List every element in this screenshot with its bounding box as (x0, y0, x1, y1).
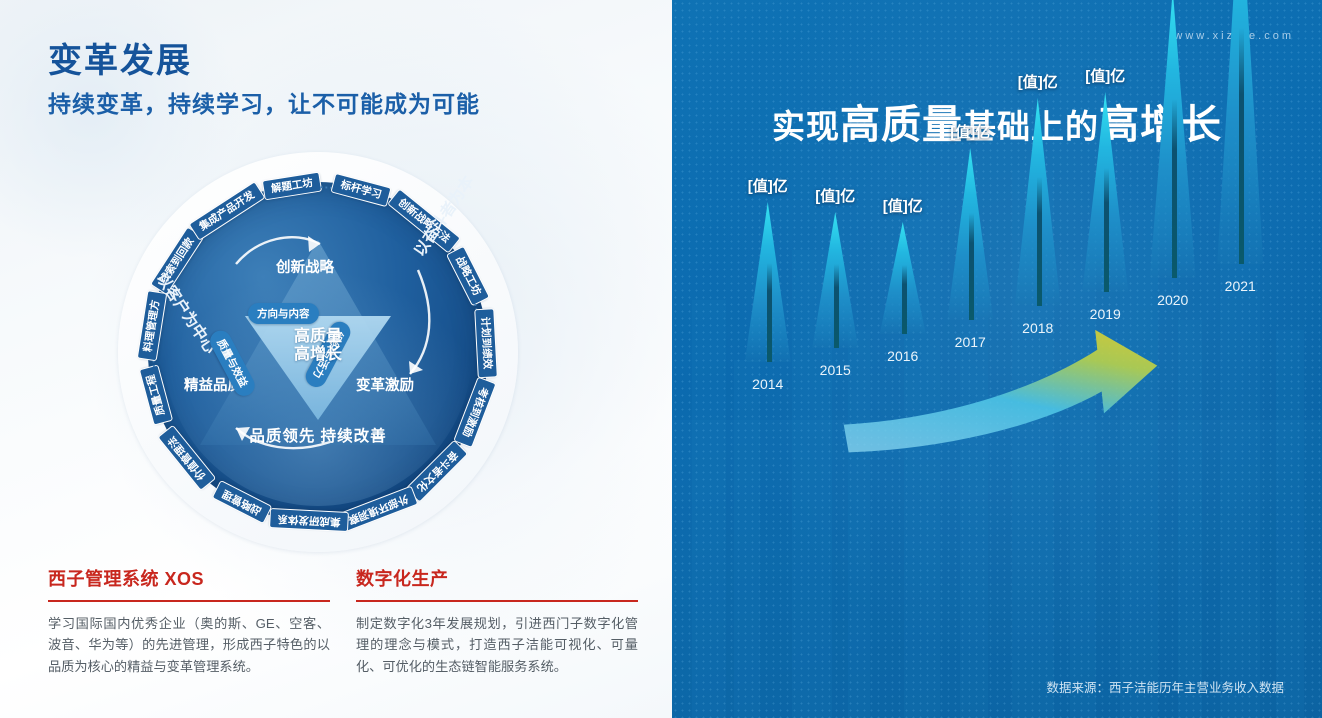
vertex-innovation-strategy: 创新战略 (276, 256, 334, 277)
vertex-change-incentive: 变革激励 (356, 374, 414, 395)
bar-value-label: [值]亿 (1085, 65, 1125, 86)
bar-category-label: 2019 (1090, 306, 1121, 322)
slide-root: 变革发展 持续变革，持续学习，让不可能成为可能 解题工坊...标杆学习创新战略方… (0, 0, 1322, 718)
pill-direction-content: 方向与内容 (248, 303, 319, 324)
bar-spine (969, 213, 974, 320)
bar-value-label: [值]亿 (748, 175, 788, 196)
chart-bar[interactable]: [值]亿 (812, 212, 858, 348)
diagram-core-text: 高质量 高增长 (262, 328, 374, 365)
column-body: 制定数字化3年发展规划，引进西门子数字化管理的理念与模式，打造西子洁能可视化、可… (356, 613, 638, 677)
bar-spine (902, 265, 907, 334)
column-heading: 数字化生产 (356, 565, 638, 591)
bar-category-label: 2021 (1225, 278, 1256, 294)
bar-spine (1037, 177, 1042, 306)
bar-spine (1104, 168, 1109, 292)
chart-bar[interactable]: [值]亿 (1150, 0, 1196, 278)
bar-category-label: 2020 (1157, 292, 1188, 308)
chart-bar[interactable]: [值]亿 (1015, 98, 1061, 306)
column-divider (356, 600, 638, 602)
xos-circular-diagram: 解题工坊...标杆学习创新战略方法战略工坊...计划到绩效考核到激励奋斗者文化外… (118, 152, 518, 552)
bar-category-label: 2015 (820, 362, 851, 378)
bar-category-label: 2017 (955, 334, 986, 350)
left-panel: 变革发展 持续变革，持续学习，让不可能成为可能 解题工坊...标杆学习创新战略方… (0, 0, 672, 718)
page-subtitle: 持续变革，持续学习，让不可能成为可能 (48, 85, 480, 119)
column-heading: 西子管理系统 XOS (48, 565, 330, 591)
core-line-1: 高质量 (262, 328, 374, 346)
column-divider (48, 600, 330, 602)
right-panel: www.xizice.com 实现高质量基础上的高增长 [值]亿2014[值]亿… (672, 0, 1322, 718)
chart-bar[interactable]: [值]亿 (947, 148, 993, 320)
diagram-bottom-caption: 品质领先 持续改善 (208, 424, 428, 446)
bar-value-label: [值]亿 (815, 185, 855, 206)
title-prefix: 实现 (772, 108, 840, 145)
bar-spine (1172, 99, 1177, 278)
ring-label-chip[interactable]: 集成研发体系 (269, 508, 349, 532)
bar-spine (834, 264, 839, 348)
bar-category-label: 2018 (1022, 320, 1053, 336)
title-highlight-quality: 高质量 (840, 103, 963, 147)
chart-bar[interactable]: [值]亿 (1217, 0, 1263, 264)
bar-category-label: 2016 (887, 348, 918, 364)
bar-value-label: [值]亿 (1018, 71, 1058, 92)
bar-value-label: [值]亿 (950, 121, 990, 142)
page-title: 变革发展 (48, 33, 192, 82)
ring-label-chip[interactable]: 计划到绩效 (474, 308, 498, 377)
bar-spine (767, 263, 772, 362)
chart-bar[interactable]: [值]亿 (1082, 92, 1128, 292)
chart-bar[interactable]: [值]亿 (745, 202, 791, 362)
column-digital-production: 数字化生产 制定数字化3年发展规划，引进西门子数字化管理的理念与模式，打造西子洁… (356, 565, 638, 677)
column-xos: 西子管理系统 XOS 学习国际国内优秀企业（奥的斯、GE、空客、波音、华为等）的… (48, 565, 330, 677)
bar-value-label: [值]亿 (883, 195, 923, 216)
column-body: 学习国际国内优秀企业（奥的斯、GE、空客、波音、华为等）的先进管理，形成西子特色… (48, 613, 330, 677)
bar-spine (1239, 28, 1244, 264)
data-source-note: 数据来源：西子洁能历年主营业务收入数据 (1046, 677, 1284, 696)
chart-bar[interactable]: [值]亿 (880, 222, 926, 334)
bar-category-label: 2014 (752, 376, 783, 392)
spike-bar-chart: [值]亿2014[值]亿2015[值]亿2016[值]亿2017[值]亿2018… (672, 150, 1322, 660)
core-line-2: 高增长 (262, 346, 374, 364)
